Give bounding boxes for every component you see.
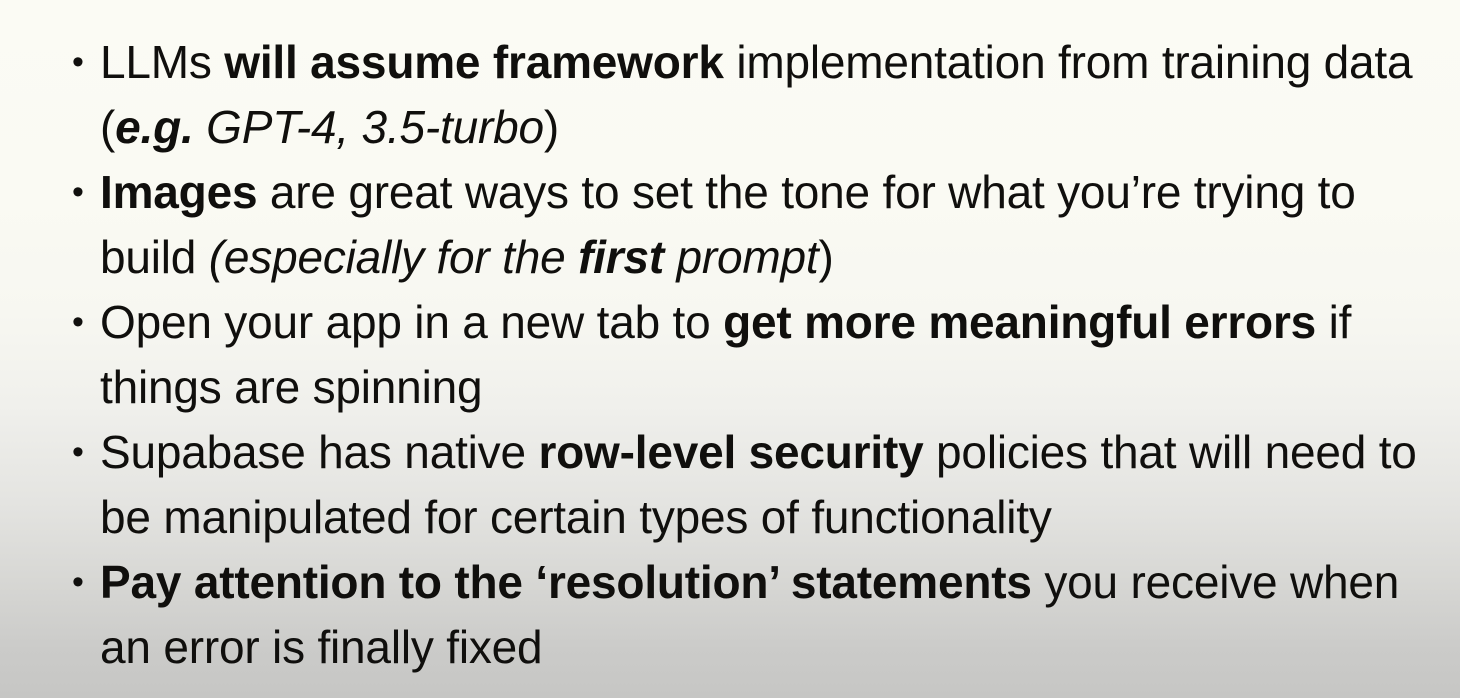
bullet-text: Images are great ways to set the tone fo… xyxy=(100,160,1450,290)
text-run: Open your app in a new tab to xyxy=(100,296,723,348)
bullet-item: •Open your app in a new tab to get more … xyxy=(0,290,1460,420)
text-run: LLMs xyxy=(100,36,224,88)
presentation-slide: •LLMs will assume framework implementati… xyxy=(0,0,1460,698)
bullet-item: •Images are great ways to set the tone f… xyxy=(0,160,1460,290)
text-run: row-level security xyxy=(538,426,923,478)
bullet-point-icon: • xyxy=(72,550,84,615)
text-run: (especially for the xyxy=(209,231,578,283)
text-run: prompt xyxy=(664,231,819,283)
text-run: get more meaningful errors xyxy=(723,296,1316,348)
bullet-point-icon: • xyxy=(72,30,84,95)
bullet-point-icon: • xyxy=(72,160,84,225)
text-run: e.g. xyxy=(115,101,193,153)
bullet-point-icon: • xyxy=(72,420,84,485)
text-run: ) xyxy=(544,101,559,153)
text-run: ) xyxy=(819,231,834,283)
bullet-text: LLMs will assume framework implementatio… xyxy=(100,30,1450,160)
bullet-text: Pay attention to the ‘resolution’ statem… xyxy=(100,550,1450,680)
bullet-item: •Supabase has native row-level security … xyxy=(0,420,1460,550)
text-run: Supabase has native xyxy=(100,426,538,478)
text-run: first xyxy=(578,231,664,283)
bullet-point-icon: • xyxy=(72,290,84,355)
bullet-text: Supabase has native row-level security p… xyxy=(100,420,1450,550)
text-run: GPT-4, 3.5-turbo xyxy=(194,101,544,153)
text-run: Images xyxy=(100,166,257,218)
bullet-list: •LLMs will assume framework implementati… xyxy=(0,30,1460,680)
bullet-item: •LLMs will assume framework implementati… xyxy=(0,30,1460,160)
text-run: will assume framework xyxy=(224,36,723,88)
text-run: Pay attention to the ‘resolution’ statem… xyxy=(100,556,1032,608)
bullet-text: Open your app in a new tab to get more m… xyxy=(100,290,1450,420)
bullet-item: •Pay attention to the ‘resolution’ state… xyxy=(0,550,1460,680)
